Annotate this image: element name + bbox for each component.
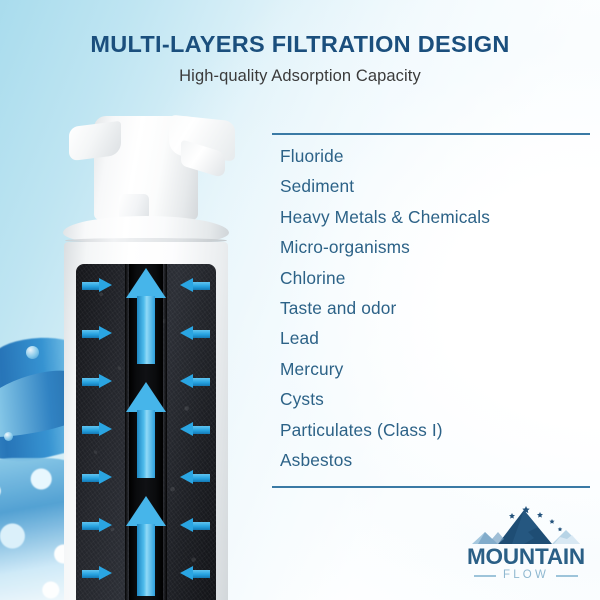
flow-arrow-inward-left [82,566,112,581]
contaminant-item: Chlorine [280,270,590,300]
infographic-canvas: MULTI-LAYERS FILTRATION DESIGN High-qual… [0,0,600,600]
page-title: MULTI-LAYERS FILTRATION DESIGN [0,0,600,58]
contaminant-item: Taste and odor [280,300,590,330]
water-filter-cartridge-illustration [63,112,229,600]
carbon-block-cutaway [76,264,216,600]
contaminant-item: Particulates (Class I) [280,422,590,452]
contaminant-item: Cysts [280,391,590,421]
contaminant-item: Lead [280,330,590,360]
logo-dash-right [556,575,578,577]
flow-arrow-upward [126,382,166,478]
logo-tagline: FLOW [503,570,549,582]
flow-arrow-inward-right [180,422,210,437]
flow-arrow-inward-left [82,326,112,341]
flow-arrow-inward-right [180,326,210,341]
brand-logo: MOUNTAIN FLOW [462,506,590,584]
flow-arrow-inward-left [82,278,112,293]
flow-arrow-inward-right [180,374,210,389]
divider-bottom [272,486,590,488]
logo-tagline-row: FLOW [462,570,590,582]
flow-arrow-inward-left [82,374,112,389]
contaminant-item: Mercury [280,361,590,391]
header: MULTI-LAYERS FILTRATION DESIGN High-qual… [0,0,600,85]
contaminant-item: Heavy Metals & Chemicals [280,209,590,239]
flow-arrow-inward-right [180,278,210,293]
flow-arrow-inward-right [180,566,210,581]
flow-arrow-inward-left [82,470,112,485]
contaminant-item: Micro-organisms [280,239,590,269]
page-subtitle: High-quality Adsorption Capacity [0,58,600,85]
contaminant-item: Asbestos [280,452,590,482]
flow-arrow-inward-right [180,518,210,533]
contaminant-item: Fluoride [280,148,590,178]
water-droplet-icon [4,432,13,441]
logo-wordmark: MOUNTAIN [462,546,590,569]
water-droplet-icon [26,346,39,359]
flow-arrow-inward-left [82,518,112,533]
flow-arrow-upward [126,268,166,364]
contaminant-item: Sediment [280,178,590,208]
logo-dash-left [474,575,496,577]
flow-arrow-inward-right [180,470,210,485]
contaminant-list-panel: FluorideSedimentHeavy Metals & Chemicals… [272,133,590,482]
flow-arrow-inward-left [82,422,112,437]
contaminant-list: FluorideSedimentHeavy Metals & Chemicals… [272,135,590,482]
flow-arrow-upward [126,496,166,596]
